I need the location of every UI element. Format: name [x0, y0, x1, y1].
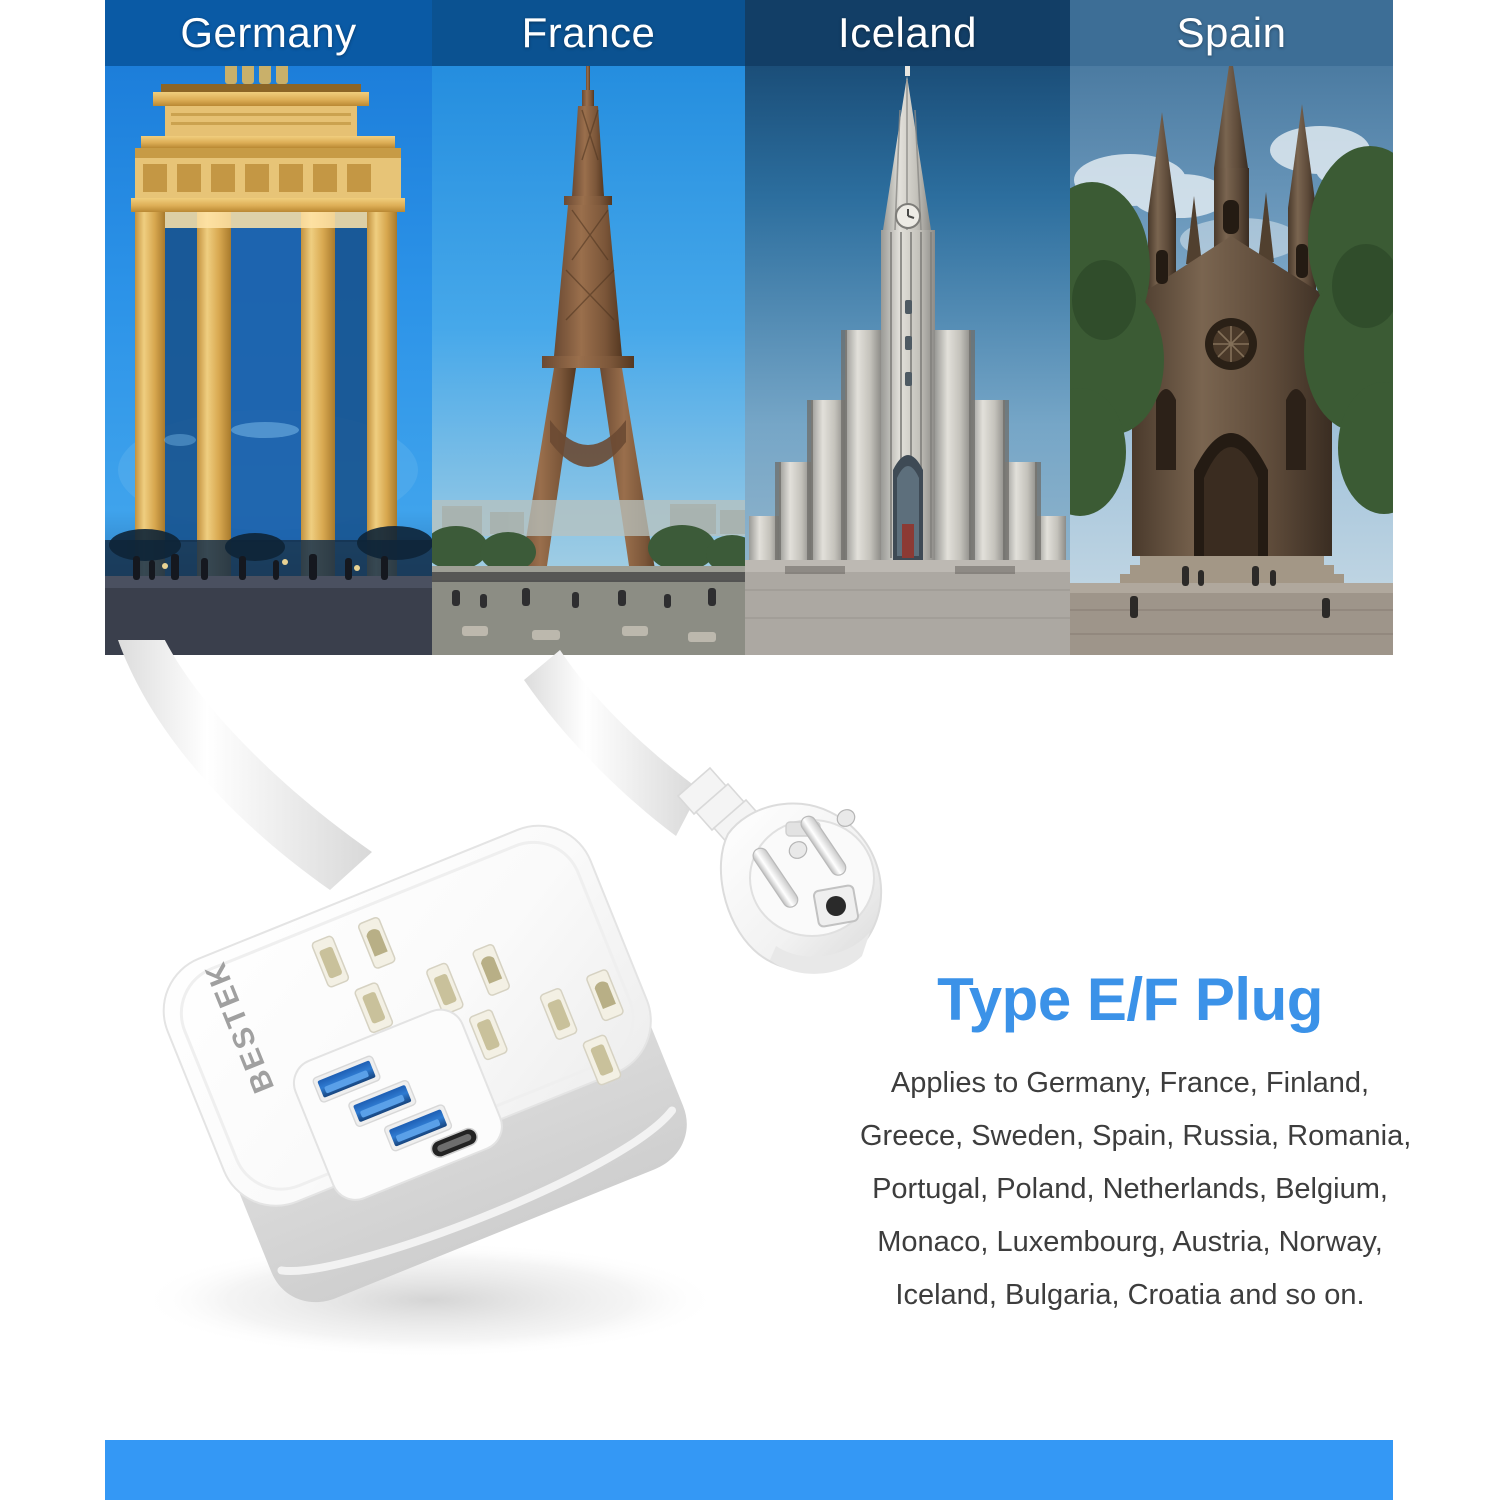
blurb-line-4: Monaco, Luxembourg, Austria, Norway,: [860, 1216, 1400, 1269]
power-strip: BESTEK: [147, 809, 707, 1319]
panel-iceland: Iceland: [745, 0, 1070, 655]
plug-detail-square: [813, 885, 859, 927]
power-cable-left: [118, 640, 372, 890]
product-photo: BESTEK: [0, 640, 900, 1400]
panel-spain: Spain: [1070, 0, 1393, 655]
panel-label-spain: Spain: [1070, 0, 1393, 66]
bottom-accent-bar: [105, 1440, 1393, 1500]
blurb-line-2: Greece, Sweden, Spain, Russia, Romania,: [860, 1110, 1400, 1163]
blurb-line-5: Iceland, Bulgaria, Croatia and so on.: [860, 1269, 1400, 1322]
power-cable-right: [524, 650, 700, 836]
panel-france: France: [432, 0, 745, 655]
panel-germany: Germany: [105, 0, 432, 655]
blurb-line-1: Applies to Germany, France, Finland,: [860, 1057, 1400, 1110]
page-title: Type E/F Plug: [860, 968, 1400, 1031]
panel-label-germany: Germany: [105, 0, 432, 66]
eiffel-tower-photo: [432, 0, 745, 655]
panel-label-iceland: Iceland: [745, 0, 1070, 66]
landmark-photo-strip: Germany: [105, 0, 1393, 655]
hallgrimskirkja-photo: [745, 0, 1070, 655]
panel-label-france: France: [432, 0, 745, 66]
barcelona-cathedral-photo: [1070, 0, 1393, 655]
type-ef-plug: [678, 768, 881, 974]
brandenburg-gate-photo: [105, 0, 432, 655]
blurb-line-3: Portugal, Poland, Netherlands, Belgium,: [860, 1163, 1400, 1216]
applies-to-paragraph: Applies to Germany, France, Finland, Gre…: [860, 1057, 1400, 1322]
product-marketing-image: Germany: [0, 0, 1500, 1500]
plug-info-text-block: Type E/F Plug Applies to Germany, France…: [860, 968, 1400, 1322]
